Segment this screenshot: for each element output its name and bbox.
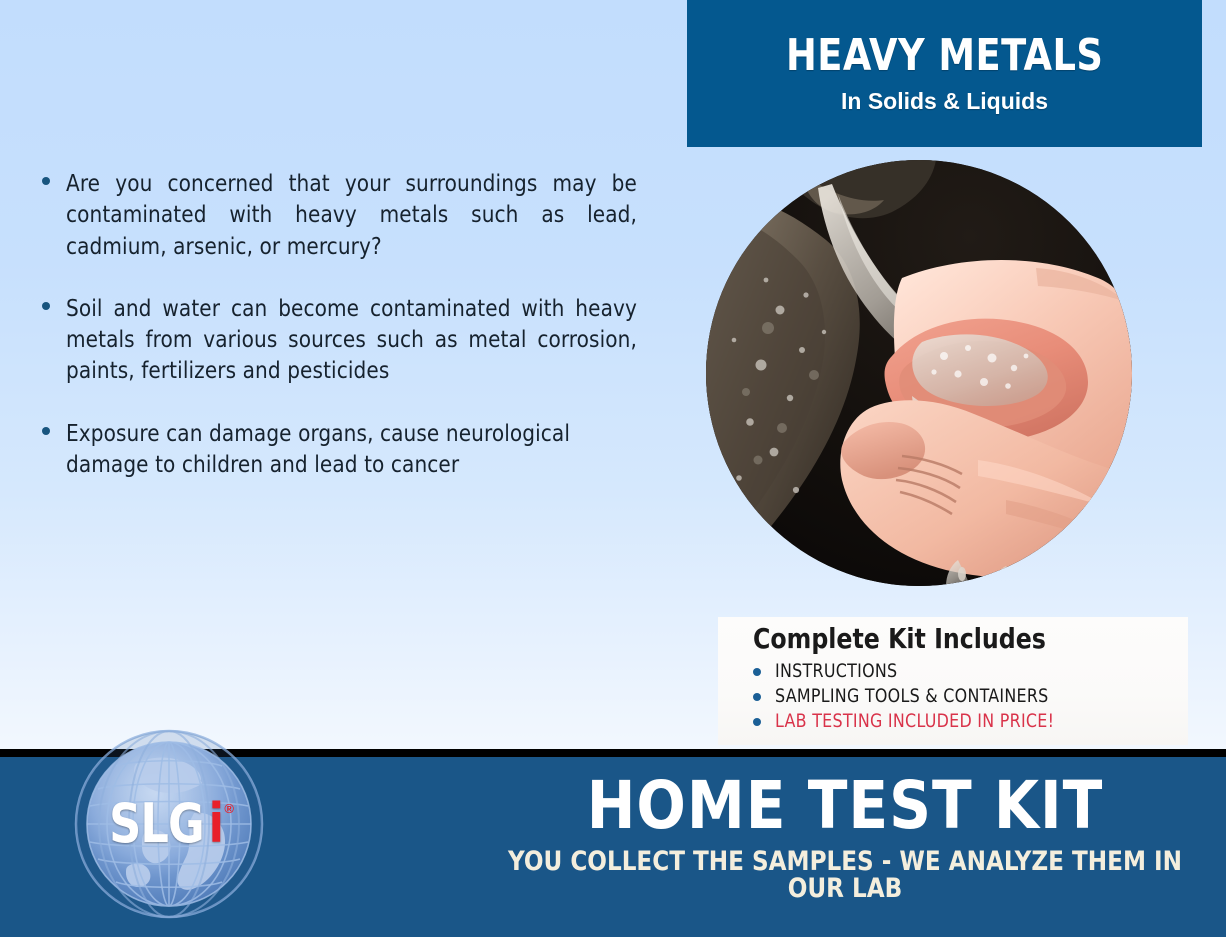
poster-canvas: HEAVY METALS In Solids & Liquids Are you… [0, 0, 1226, 937]
hands-water-photo [706, 160, 1132, 586]
kit-includes-title: Complete Kit Includes [753, 625, 1046, 653]
globe-icon [72, 727, 266, 921]
bullet-dot-icon [42, 427, 50, 435]
product-title: HOME TEST KIT [502, 773, 1188, 839]
list-item: INSTRUCTIONS [753, 659, 1075, 684]
product-tagline: YOU COLLECT THE SAMPLES - WE ANALYZE THE… [506, 849, 1185, 902]
list-item: LAB TESTING INCLUDED IN PRICE! [753, 709, 1075, 734]
header-banner: HEAVY METALS In Solids & Liquids [687, 0, 1202, 147]
photo-artwork [706, 160, 1132, 586]
kit-includes-panel: Complete Kit Includes INSTRUCTIONS SAMPL… [718, 617, 1188, 745]
list-item: Soil and water can become contaminated w… [42, 293, 667, 387]
list-item: Exposure can damage organs, cause neurol… [42, 418, 667, 481]
footer-banner-text: HOME TEST KIT YOU COLLECT THE SAMPLES - … [495, 773, 1195, 902]
feature-bullet-list: Are you concerned that your surroundings… [42, 168, 667, 511]
list-item: SAMPLING TOOLS & CONTAINERS [753, 684, 1075, 709]
bullet-dot-icon [42, 177, 50, 185]
list-item-label: INSTRUCTIONS [775, 662, 897, 681]
bullet-dot-icon [753, 718, 761, 726]
list-item-label-highlighted: LAB TESTING INCLUDED IN PRICE! [775, 712, 1054, 731]
page-subtitle: In Solids & Liquids [841, 90, 1048, 113]
list-item-label: Exposure can damage organs, cause neurol… [66, 418, 637, 481]
list-item-label: Soil and water can become contaminated w… [66, 293, 637, 387]
page-title: HEAVY METALS [786, 34, 1103, 78]
list-item-label: SAMPLING TOOLS & CONTAINERS [775, 687, 1049, 706]
bullet-dot-icon [753, 693, 761, 701]
bullet-dot-icon [42, 302, 50, 310]
slgi-logo: SLGi® [72, 727, 266, 921]
kit-includes-list: INSTRUCTIONS SAMPLING TOOLS & CONTAINERS… [753, 659, 1075, 734]
list-item: Are you concerned that your surroundings… [42, 168, 667, 262]
bullet-dot-icon [753, 668, 761, 676]
list-item-label: Are you concerned that your surroundings… [66, 168, 637, 262]
